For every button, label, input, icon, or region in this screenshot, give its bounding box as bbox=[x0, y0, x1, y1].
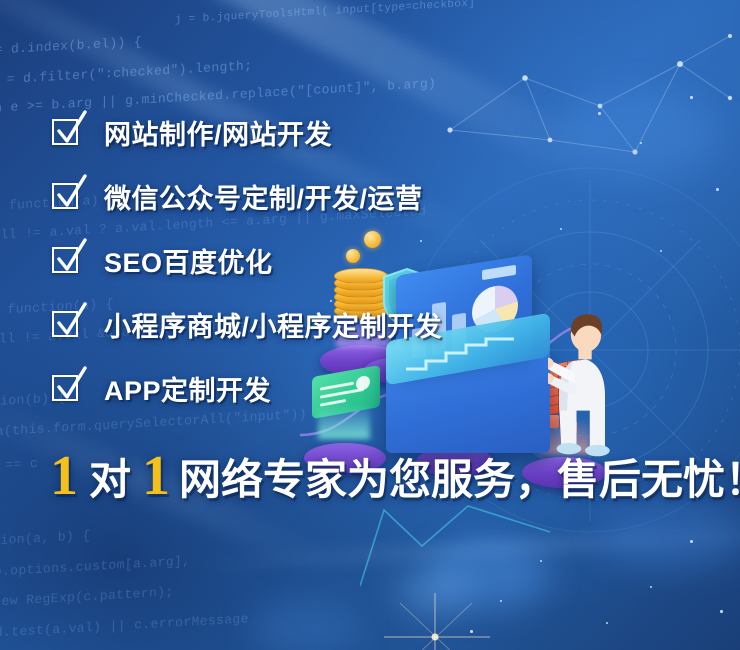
checkbox-checked-icon bbox=[52, 309, 82, 339]
promo-headline: 1 对 1 网络专家为您服务，售后无忧！ bbox=[50, 448, 740, 504]
checkbox-checked-icon bbox=[52, 117, 82, 147]
checkmark-glyph bbox=[51, 174, 93, 214]
feature-list-item-label: SEO百度优化 bbox=[104, 241, 273, 280]
feature-list-item-label: 网站制作/网站开发 bbox=[104, 113, 332, 152]
promotional-banner: j = b.jqueryToolsHtml( input[type=checkb… bbox=[0, 0, 740, 650]
feature-list: 网站制作/网站开发 微信公众号定制/开发/运营 SEO百度优化 bbox=[52, 100, 692, 420]
feature-list-item[interactable]: APP定制开发 bbox=[52, 356, 692, 420]
headline-number-one: 1 bbox=[50, 448, 78, 504]
checkmark-glyph bbox=[51, 366, 93, 406]
headline-word-dui: 对 bbox=[89, 459, 131, 501]
checkmark-glyph bbox=[51, 110, 93, 150]
checkmark-glyph bbox=[51, 302, 93, 342]
checkmark-glyph bbox=[51, 238, 93, 278]
feature-list-item[interactable]: SEO百度优化 bbox=[52, 228, 692, 292]
feature-list-item-label: 微信公众号定制/开发/运营 bbox=[104, 177, 423, 216]
feature-list-item-label: APP定制开发 bbox=[104, 369, 271, 408]
checkbox-checked-icon bbox=[52, 245, 82, 275]
feature-list-item[interactable]: 网站制作/网站开发 bbox=[52, 100, 692, 164]
feature-list-item[interactable]: 小程序商城/小程序定制开发 bbox=[52, 292, 692, 356]
feature-list-item-label: 小程序商城/小程序定制开发 bbox=[104, 305, 442, 344]
headline-number-one-second: 1 bbox=[142, 448, 170, 504]
checkbox-checked-icon bbox=[52, 373, 82, 403]
feature-list-item[interactable]: 微信公众号定制/开发/运营 bbox=[52, 164, 692, 228]
headline-rest-text: 网络专家为您服务，售后无忧！ bbox=[179, 459, 740, 501]
checkbox-checked-icon bbox=[52, 181, 82, 211]
